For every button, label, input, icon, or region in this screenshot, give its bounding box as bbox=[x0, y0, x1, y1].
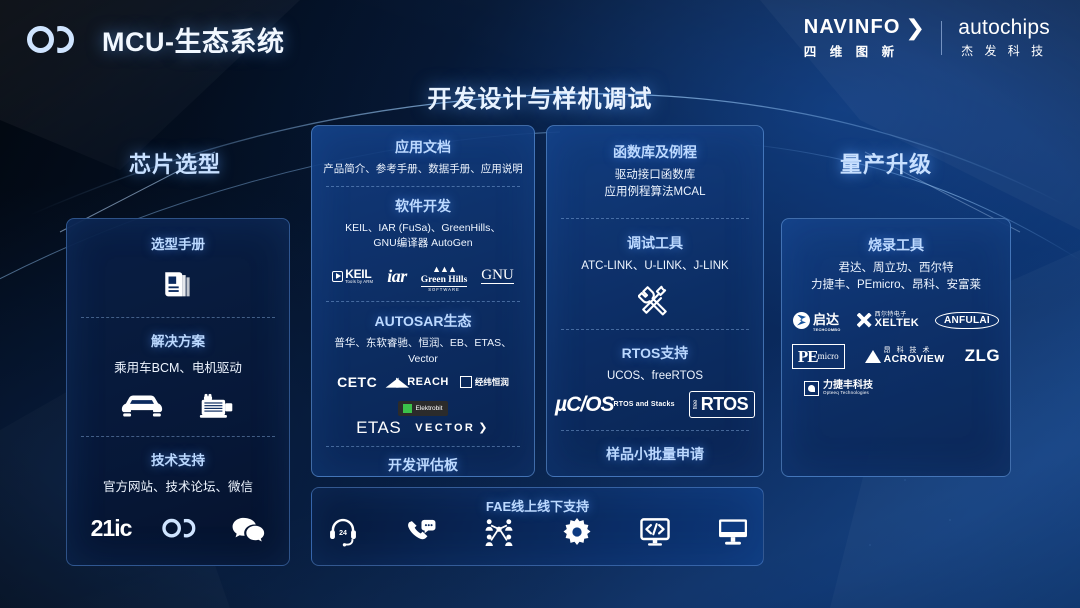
section-title-libraries: 函数库及例程 bbox=[555, 142, 755, 162]
acroview-logo[interactable]: 昂 科 技 术 ACROVIEW bbox=[865, 347, 945, 365]
section-subtitle-software-dev: KEIL、IAR (FuSa)、GreenHills、 GNU编译器 AutoG… bbox=[320, 221, 526, 251]
section-subtitle-tech-support: 官方网站、技术论坛、微信 bbox=[77, 476, 279, 495]
navinfo-logo-en: NAVINFO bbox=[804, 17, 901, 38]
reach-logo[interactable]: ◢◣REACH bbox=[388, 374, 449, 390]
greenhills-logo[interactable]: ▲▲▲ Green Hills SOFTWARE bbox=[421, 260, 468, 293]
card-fae-support[interactable]: FAE线上线下支持 24 bbox=[311, 487, 764, 566]
section-title-tech-support: 技术支持 bbox=[77, 449, 279, 469]
cetc-logo[interactable]: CETC bbox=[337, 374, 377, 390]
keil-logo-sub: Tools by ARM bbox=[345, 280, 373, 284]
section-title-rtos: RTOS支持 bbox=[555, 343, 755, 363]
section-title-dev-boards: 开发评估板 bbox=[320, 455, 526, 475]
column-heading-chip-selection: 芯片选型 bbox=[129, 147, 221, 179]
motor-icon bbox=[199, 391, 235, 421]
etas-logo[interactable]: ETAS bbox=[356, 418, 401, 438]
pemicro-logo-a: PE bbox=[798, 348, 818, 365]
vector-logo[interactable]: VECTOR❯ bbox=[415, 421, 490, 434]
section-subtitle-debug-tools: ATC-LINK、U-LINK、J-LINK bbox=[555, 258, 755, 275]
card-production-tools[interactable]: 烧录工具 君达、周立功、西尔特 力捷丰、PEmicro、昂科、安富莱 启达 TE… bbox=[781, 218, 1011, 477]
xeltek-logo[interactable]: 西尔特电子 XELTEK bbox=[857, 312, 919, 329]
vector-logo-text: VECTOR bbox=[415, 422, 475, 434]
anfulai-logo[interactable]: ANFULAI bbox=[935, 312, 999, 329]
ucos-logo-text: µC/OS bbox=[555, 394, 613, 415]
autochips-logo: autochips 杰 发 科 技 bbox=[958, 17, 1050, 59]
fae-icon-row: 24 bbox=[312, 517, 763, 547]
elektrobit-logo[interactable]: Elektrobit bbox=[398, 401, 447, 416]
hirain-logo-text: 经纬恒润 bbox=[475, 376, 509, 388]
reach-logo-text: REACH bbox=[407, 376, 449, 388]
section-subtitle-solutions: 乘用车BCM、电机驱动 bbox=[77, 357, 279, 376]
section-subtitle-burn-tools: 君达、周立功、西尔特 力捷丰、PEmicro、昂科、安富莱 bbox=[792, 260, 1000, 295]
qida-logo-sub: TECHCOMBO bbox=[813, 328, 841, 332]
qida-logo-text: 启达 bbox=[813, 312, 839, 327]
greenhills-logo-sub: SOFTWARE bbox=[421, 288, 468, 292]
code-screen-icon[interactable] bbox=[640, 518, 670, 546]
card-chip-selection[interactable]: 选型手册 解决方案 乘用车BCM、电机驱动 bbox=[66, 218, 290, 566]
section-title-autosar: AUTOSAR生态 bbox=[320, 311, 526, 331]
fae-support-title: FAE线上线下支持 bbox=[312, 496, 763, 515]
car-icon bbox=[121, 391, 163, 421]
acroview-logo-en: ACROVIEW bbox=[884, 354, 945, 365]
navinfo-chevron-icon: ❯ bbox=[905, 16, 927, 39]
phone-chat-icon[interactable] bbox=[406, 518, 436, 546]
section-subtitle-rtos: UCOS、freeRTOS bbox=[555, 368, 755, 385]
section-subtitle-libraries: 驱动接口函数库 应用例程算法MCAL bbox=[555, 167, 755, 200]
qida-logo[interactable]: 启达 TECHCOMBO bbox=[793, 309, 841, 332]
lijiefeng-logo[interactable]: 力捷丰科技 Opteeq Technologies bbox=[804, 381, 873, 396]
xeltek-logo-en: XELTEK bbox=[875, 318, 919, 329]
pemicro-logo-b: micro bbox=[818, 352, 839, 361]
section-title-software-dev: 软件开发 bbox=[320, 196, 526, 216]
autochips-logo-en: autochips bbox=[958, 17, 1050, 39]
chip-icon bbox=[633, 474, 677, 477]
iar-logo[interactable]: iar bbox=[387, 266, 407, 287]
elektrobit-logo-text: Elektrobit bbox=[415, 405, 442, 412]
headset-24-icon[interactable]: 24 bbox=[328, 517, 358, 547]
pemicro-logo[interactable]: PE micro bbox=[792, 344, 845, 369]
freertos-logo[interactable]: free RTOS bbox=[689, 391, 755, 418]
freertos-prefix: free bbox=[693, 400, 699, 409]
svg-text:24: 24 bbox=[339, 530, 347, 537]
brand-logos: NAVINFO ❯ 四 维 图 新 autochips 杰 发 科 技 bbox=[804, 16, 1050, 60]
oc-logo-icon bbox=[27, 24, 79, 54]
section-title-burn-tools: 烧录工具 bbox=[792, 235, 1000, 255]
ucos-logo-sub: RTOS and Stacks bbox=[613, 401, 674, 408]
banner-title: 开发设计与样机调试 bbox=[428, 79, 653, 114]
21ic-logo[interactable]: 21ic bbox=[91, 515, 132, 542]
navinfo-logo-cn: 四 维 图 新 bbox=[804, 41, 926, 60]
section-title-selection-manual: 选型手册 bbox=[77, 233, 279, 253]
autochips-logo-cn: 杰 发 科 技 bbox=[958, 42, 1050, 59]
section-title-app-docs: 应用文档 bbox=[320, 137, 526, 157]
gear-icon[interactable] bbox=[562, 517, 592, 547]
freertos-name: RTOS bbox=[701, 394, 748, 415]
monitor-icon[interactable] bbox=[718, 518, 748, 546]
lijiefeng-logo-en: Opteeq Technologies bbox=[823, 391, 873, 396]
section-title-solutions: 解决方案 bbox=[77, 330, 279, 350]
section-subtitle-app-docs: 产品简介、参考手册、数据手册、应用说明 bbox=[320, 162, 526, 177]
banner: 开发设计与样机调试 bbox=[0, 78, 1080, 114]
section-subtitle-autosar: 普华、东软睿驰、恒润、EB、ETAS、Vector bbox=[320, 336, 526, 366]
brand-divider bbox=[941, 21, 942, 55]
navinfo-logo: NAVINFO ❯ 四 维 图 新 bbox=[804, 16, 926, 60]
section-title-sample-request: 样品小批量申请 bbox=[555, 444, 755, 464]
card-app-docs[interactable]: 应用文档 产品简介、参考手册、数据手册、应用说明 软件开发 KEIL、IAR (… bbox=[311, 125, 535, 477]
selection-manual-icon bbox=[161, 268, 195, 302]
card-libraries[interactable]: 函数库及例程 驱动接口函数库 应用例程算法MCAL 调试工具 ATC-LINK、… bbox=[546, 125, 764, 477]
ucos-logo[interactable]: µC/OS RTOS and Stacks bbox=[555, 394, 675, 415]
wrench-screwdriver-icon bbox=[638, 284, 672, 316]
wechat-icon[interactable] bbox=[231, 516, 265, 542]
network-people-icon[interactable] bbox=[484, 518, 514, 546]
oc-logo[interactable] bbox=[163, 518, 200, 538]
section-title-debug-tools: 调试工具 bbox=[555, 233, 755, 253]
hirain-logo[interactable]: 经纬恒润 bbox=[460, 376, 509, 388]
column-heading-production: 量产升级 bbox=[840, 147, 932, 179]
gnu-logo[interactable]: GNU bbox=[481, 268, 514, 285]
page-title: MCU-生态系统 bbox=[102, 20, 284, 59]
keil-logo[interactable]: KEIL Tools by ARM bbox=[332, 268, 373, 284]
zlg-logo[interactable]: ZLG bbox=[965, 346, 1001, 366]
